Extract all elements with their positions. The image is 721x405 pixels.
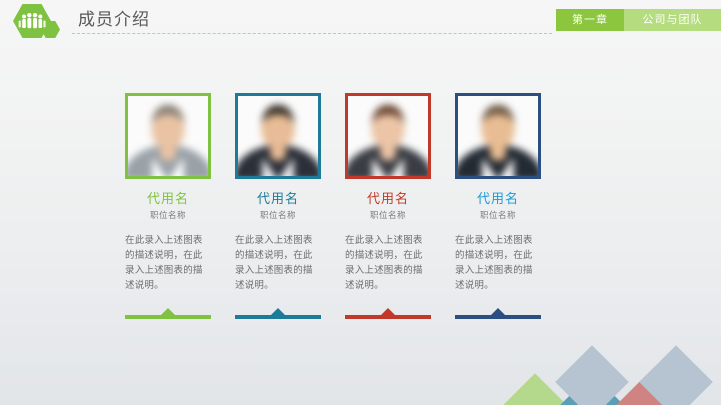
member-description: 在此录入上述图表的描述说明，在此录入上述图表的描述说明。	[125, 233, 211, 293]
member-photo-frame[interactable]	[345, 93, 431, 179]
divider-arrow-up-icon	[491, 308, 505, 315]
member-photo-frame[interactable]	[125, 93, 211, 179]
page-title: 成员介绍	[78, 9, 150, 31]
diamond-red	[611, 373, 685, 405]
portrait-photo-man	[235, 93, 321, 179]
diamond-gray-right	[639, 345, 713, 405]
slide-header: 成员介绍 第一章 公司与团队	[0, 0, 721, 40]
divider-bar	[345, 315, 431, 319]
member-name: 代用名	[257, 191, 299, 207]
divider-arrow-up-icon	[271, 308, 285, 315]
member-name: 代用名	[147, 191, 189, 207]
member-role: 职位名称	[480, 210, 516, 221]
member-accent-divider	[125, 308, 211, 319]
member-name: 代用名	[477, 191, 519, 207]
member-card[interactable]: 代用名职位名称在此录入上述图表的描述说明，在此录入上述图表的描述说明。	[125, 93, 211, 319]
member-accent-divider	[455, 308, 541, 319]
diamond-teal	[555, 373, 629, 405]
member-card[interactable]: 代用名职位名称在此录入上述图表的描述说明，在此录入上述图表的描述说明。	[345, 93, 431, 319]
member-description: 在此录入上述图表的描述说明，在此录入上述图表的描述说明。	[345, 233, 431, 293]
diamond-green	[498, 373, 572, 405]
people-group-icon	[13, 4, 51, 38]
portrait-photo-man	[455, 93, 541, 179]
diamond-gray-left	[555, 345, 629, 405]
divider-bar	[125, 315, 211, 319]
member-role: 职位名称	[150, 210, 186, 221]
nav-tab-section[interactable]: 公司与团队	[624, 9, 721, 31]
member-description: 在此录入上述图表的描述说明，在此录入上述图表的描述说明。	[235, 233, 321, 293]
member-accent-divider	[235, 308, 321, 319]
nav-tab-chapter[interactable]: 第一章	[556, 9, 624, 31]
member-photo-frame[interactable]	[455, 93, 541, 179]
member-role: 职位名称	[260, 210, 296, 221]
member-photo-frame[interactable]	[235, 93, 321, 179]
member-card[interactable]: 代用名职位名称在此录入上述图表的描述说明，在此录入上述图表的描述说明。	[235, 93, 321, 319]
chapter-nav: 第一章 公司与团队	[556, 9, 721, 31]
divider-arrow-up-icon	[161, 308, 175, 315]
member-description: 在此录入上述图表的描述说明，在此录入上述图表的描述说明。	[455, 233, 541, 293]
member-name: 代用名	[367, 191, 409, 207]
header-divider	[72, 33, 552, 34]
divider-bar	[455, 315, 541, 319]
divider-arrow-up-icon	[381, 308, 395, 315]
divider-bar	[235, 315, 321, 319]
member-role: 职位名称	[370, 210, 406, 221]
portrait-photo-woman	[345, 93, 431, 179]
slide-canvas: 成员介绍 第一章 公司与团队 代用名职位名称在此录入上述图表的描述说明，在此录入…	[0, 0, 721, 405]
header-logo	[13, 4, 69, 40]
member-card-list: 代用名职位名称在此录入上述图表的描述说明，在此录入上述图表的描述说明。代用名职位…	[125, 93, 615, 319]
member-accent-divider	[345, 308, 431, 319]
portrait-photo-woman	[125, 93, 211, 179]
member-card[interactable]: 代用名职位名称在此录入上述图表的描述说明，在此录入上述图表的描述说明。	[455, 93, 541, 319]
